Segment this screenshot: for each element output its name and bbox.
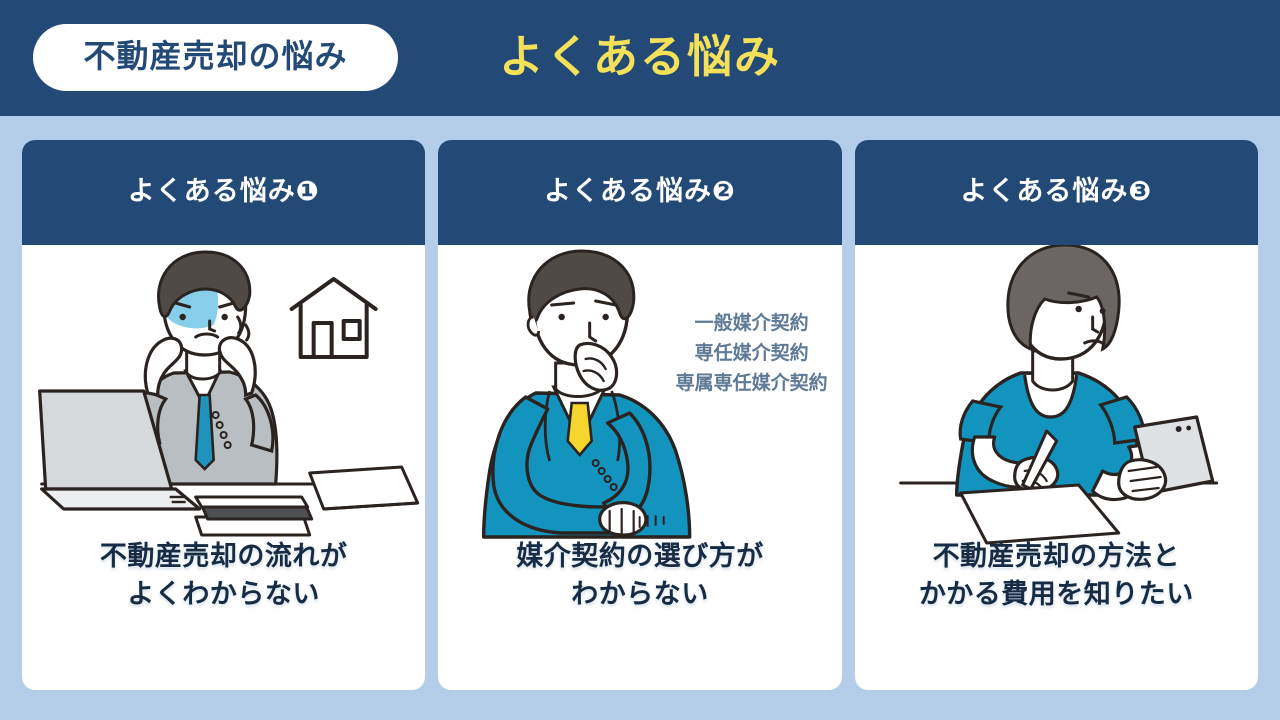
card-3-body: 不動産売却の方法と かかる費用を知りたい bbox=[855, 245, 1258, 690]
header-badge: 不動産売却の悩み bbox=[33, 24, 398, 91]
contract-type-list: 一般媒介契約 専任媒介契約 専属専任媒介契約 bbox=[676, 309, 828, 399]
card-3-caption-line2: かかる費用を知りたい bbox=[855, 575, 1258, 613]
card-3-caption-line1: 不動産売却の方法と bbox=[855, 537, 1258, 575]
card-3-caption: 不動産売却の方法と かかる費用を知りたい bbox=[855, 537, 1258, 613]
card-1-header: よくある悩み❶ bbox=[22, 140, 425, 245]
card-1-header-label: よくある悩み❶ bbox=[128, 178, 320, 207]
card-2-body: 一般媒介契約 専任媒介契約 専属専任媒介契約 媒介契約の選び方が わからない bbox=[438, 245, 841, 690]
header-badge-label: 不動産売却の悩み bbox=[83, 40, 347, 75]
card-1-caption: 不動産売却の流れが よくわからない bbox=[22, 537, 425, 613]
concern-card-3[interactable]: よくある悩み❸ bbox=[855, 140, 1258, 690]
card-3-header-label: よくある悩み❸ bbox=[960, 178, 1152, 207]
house-icon bbox=[292, 279, 376, 357]
concern-card-2[interactable]: よくある悩み❷ bbox=[438, 140, 841, 690]
card-2-caption-line2: わからない bbox=[438, 575, 841, 613]
card-2-header-label: よくある悩み❷ bbox=[544, 178, 736, 207]
contract-type-2: 専任媒介契約 bbox=[676, 339, 828, 369]
card-grid: よくある悩み❶ bbox=[22, 140, 1258, 690]
card-1-caption-line2: よくわからない bbox=[22, 575, 425, 613]
card-1-body: 不動産売却の流れが よくわからない bbox=[22, 245, 425, 690]
card-2-caption-line1: 媒介契約の選び方が bbox=[438, 537, 841, 575]
card-3-header: よくある悩み❸ bbox=[855, 140, 1258, 245]
page-header: よくある悩み 不動産売却の悩み bbox=[0, 0, 1280, 116]
contract-type-1: 一般媒介契約 bbox=[676, 309, 828, 339]
illustration-woman-writing-with-phone bbox=[855, 245, 1258, 545]
contract-type-3: 専属専任媒介契約 bbox=[676, 369, 828, 399]
card-2-header: よくある悩み❷ bbox=[438, 140, 841, 245]
card-2-caption: 媒介契約の選び方が わからない bbox=[438, 537, 841, 613]
concern-card-1[interactable]: よくある悩み❶ bbox=[22, 140, 425, 690]
illustration-worried-businessman-at-laptop bbox=[22, 245, 425, 545]
card-1-caption-line1: 不動産売却の流れが bbox=[22, 537, 425, 575]
